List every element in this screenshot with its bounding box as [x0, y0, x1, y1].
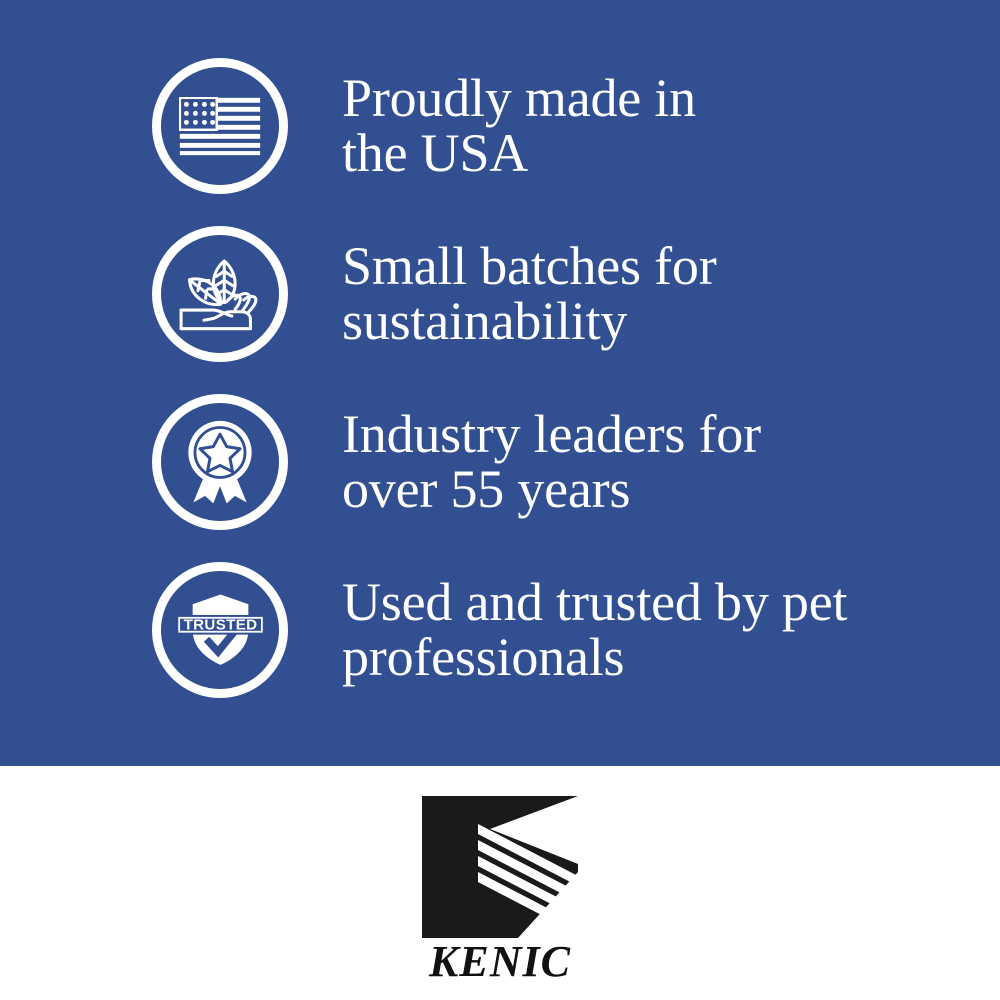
feature-panel: Proudly made in the USA — [0, 0, 1000, 766]
promo-graphic: Proudly made in the USA — [0, 0, 1000, 1000]
feature-item-used-by-professionals: TRUSTED Used and trusted by pet professi… — [0, 546, 1000, 714]
kenic-logo: KENIC — [422, 796, 578, 984]
brand-footer: KENIC — [0, 766, 1000, 1000]
feature-list: Proudly made in the USA — [0, 42, 1000, 714]
feature-item-made-in-usa: Proudly made in the USA — [0, 42, 1000, 210]
trusted-shield-icon: TRUSTED — [152, 562, 288, 698]
feature-line-1: Industry leaders for — [342, 407, 761, 462]
feature-text-used-by-professionals: Used and trusted by pet professionals — [342, 575, 847, 685]
feature-line-1: Used and trusted by pet — [342, 575, 847, 630]
kenic-wordmark: KENIC — [422, 940, 578, 984]
feature-item-industry-leaders: Industry leaders for over 55 years — [0, 378, 1000, 546]
kenic-k-logo-mark — [422, 796, 578, 938]
feature-line-2: professionals — [342, 630, 847, 685]
feature-line-1: Proudly made in — [342, 71, 696, 126]
feature-text-industry-leaders: Industry leaders for over 55 years — [342, 407, 761, 517]
feature-line-1: Small batches for — [342, 239, 717, 294]
feature-item-small-batches: Small batches for sustainability — [0, 210, 1000, 378]
hand-holding-leaves-icon — [152, 226, 288, 362]
feature-line-2: the USA — [342, 126, 696, 181]
feature-text-made-in-usa: Proudly made in the USA — [342, 71, 696, 181]
trusted-banner-label: TRUSTED — [183, 616, 257, 633]
feature-line-2: over 55 years — [342, 462, 761, 517]
award-ribbon-star-icon — [152, 394, 288, 530]
usa-flag-icon — [152, 58, 288, 194]
feature-text-small-batches: Small batches for sustainability — [342, 239, 717, 349]
feature-line-2: sustainability — [342, 294, 717, 349]
